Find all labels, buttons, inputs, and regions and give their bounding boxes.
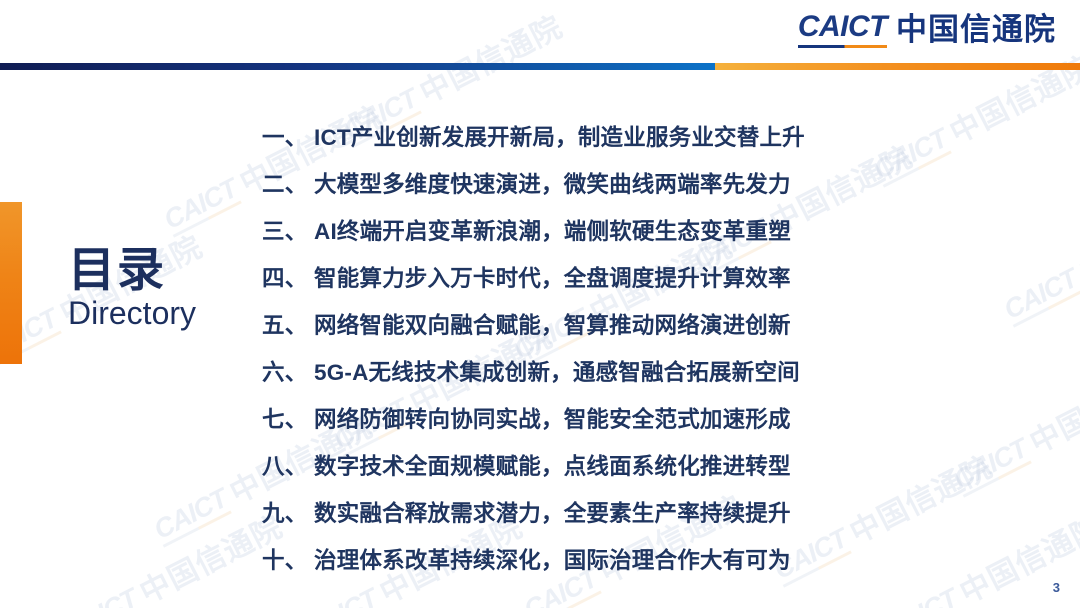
logo-latin-text: CAICT (798, 12, 887, 42)
toc-item-number: 二、 (262, 167, 314, 199)
watermark-cjk: 中国信通院 (1076, 192, 1080, 289)
watermark-cjk: 中国信通院 (956, 512, 1080, 608)
toc-item[interactable]: 八、数字技术全面规模赋能，点线面系统化推进转型 (262, 441, 902, 488)
toc-item-number: 十、 (262, 543, 314, 575)
watermark-underline (533, 590, 602, 608)
page-title-en: Directory (68, 295, 196, 332)
toc-item[interactable]: 五、网络智能双向融合赋能，智算推动网络演进创新 (262, 300, 902, 347)
toc-item-number: 四、 (262, 261, 314, 293)
header-gradient-bar (0, 63, 1080, 70)
watermark-latin: CAICT (880, 585, 961, 608)
toc-item[interactable]: 九、数实融合释放需求潜力，全要素生产率持续提升 (262, 488, 902, 535)
toc-list: 一、ICT产业创新发展开新局，制造业服务业交替上升二、大模型多维度快速演进，微笑… (262, 112, 902, 582)
logo-underline-rule (798, 45, 887, 48)
toc-item-number: 九、 (262, 496, 314, 528)
watermark-underline (1013, 290, 1080, 327)
logo-cjk-text: 中国信通院 (896, 14, 1056, 45)
watermark-latin: CAICT (300, 585, 381, 608)
page-number: 3 (1053, 580, 1060, 595)
toc-item-number: 七、 (262, 402, 314, 434)
watermark: CAICT中国信通院 (1000, 191, 1080, 327)
watermark-latin: CAICT (950, 435, 1031, 494)
logo-latin-wrap: CAICT (798, 12, 887, 48)
toc-item-label: 大模型多维度快速演进，微笑曲线两端率先发力 (314, 167, 791, 199)
toc-item-label: 数实融合释放需求潜力，全要素生产率持续提升 (314, 496, 791, 528)
watermark-latin: CAICT (160, 175, 241, 234)
watermark: CAICT中国信通院 (950, 361, 1080, 497)
toc-item-label: 数字技术全面规模赋能，点线面系统化推进转型 (314, 449, 791, 481)
watermark: CAICT中国信通院 (60, 511, 287, 608)
toc-item[interactable]: 二、大模型多维度快速演进，微笑曲线两端率先发力 (262, 159, 902, 206)
toc-item[interactable]: 六、5G-A无线技术集成创新，通感智融合拓展新空间 (262, 347, 902, 394)
toc-item-label: 治理体系改革持续深化，国际治理合作大有可为 (314, 543, 791, 575)
toc-item-label: ICT产业创新发展开新局，制造业服务业交替上升 (314, 120, 805, 152)
toc-item[interactable]: 四、智能算力步入万卡时代，全盘调度提升计算效率 (262, 253, 902, 300)
toc-item[interactable]: 七、网络防御转向协同实战，智能安全范式加速形成 (262, 394, 902, 441)
toc-item[interactable]: 一、ICT产业创新发展开新局，制造业服务业交替上升 (262, 112, 902, 159)
toc-item-label: 网络智能双向融合赋能，智算推动网络演进创新 (314, 308, 791, 340)
toc-item-number: 五、 (262, 308, 314, 340)
toc-item[interactable]: 十、治理体系改革持续深化，国际治理合作大有可为 (262, 535, 902, 582)
watermark-underline (963, 460, 1032, 497)
toc-item-number: 六、 (262, 355, 314, 387)
toc-item[interactable]: 三、AI终端开启变革新浪潮，端侧软硬生态变革重塑 (262, 206, 902, 253)
watermark-latin: CAICT (60, 585, 141, 608)
watermark-latin: CAICT (1000, 265, 1080, 324)
page-title: 目录 Directory (68, 245, 196, 332)
watermark-latin: CAICT (150, 485, 231, 544)
toc-item-label: 5G-A无线技术集成创新，通感智融合拓展新空间 (314, 355, 800, 387)
toc-item-number: 一、 (262, 120, 314, 152)
page-title-cjk: 目录 (68, 245, 196, 294)
watermark-cjk: 中国信通院 (1026, 362, 1080, 459)
slide-header: CAICT 中国信通院 (0, 0, 1080, 71)
toc-item-number: 八、 (262, 449, 314, 481)
toc-item-label: 智能算力步入万卡时代，全盘调度提升计算效率 (314, 261, 791, 293)
watermark-underline (173, 200, 242, 237)
toc-item-label: AI终端开启变革新浪潮，端侧软硬生态变革重塑 (314, 214, 791, 246)
left-accent-block (0, 202, 22, 364)
slide-directory: CAICT中国信通院CAICT中国信通院CAICT中国信通院CAICT中国信通院… (0, 0, 1080, 608)
watermark-underline (163, 510, 232, 547)
caict-logo: CAICT 中国信通院 (798, 12, 1056, 48)
toc-item-number: 三、 (262, 214, 314, 246)
watermark: CAICT中国信通院 (880, 511, 1080, 608)
toc-item-label: 网络防御转向协同实战，智能安全范式加速形成 (314, 402, 791, 434)
